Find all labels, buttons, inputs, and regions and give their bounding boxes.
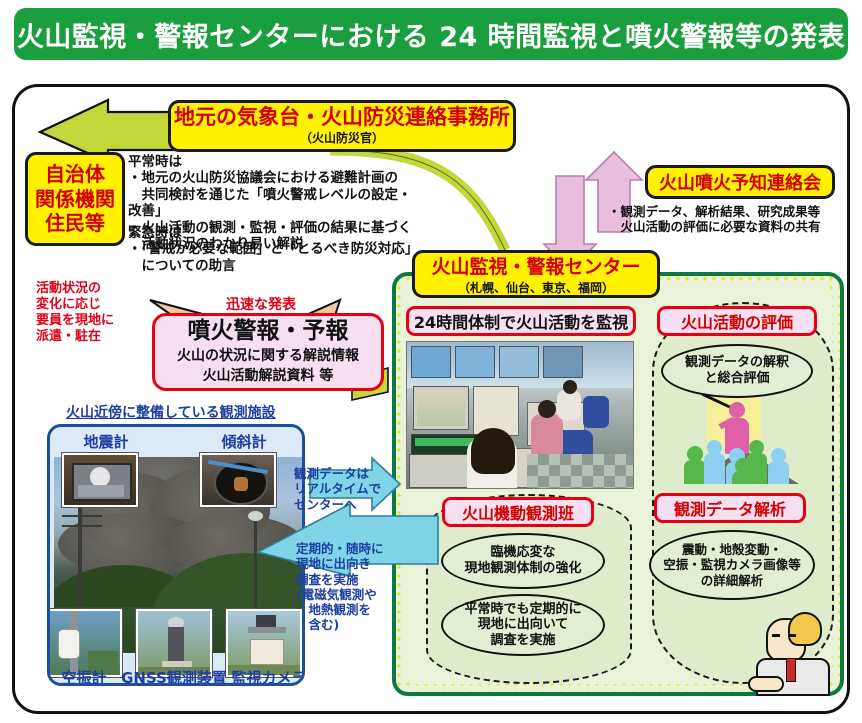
page-title: 火山監視・警報センターにおける 24 時間監視と噴火警報等の発表	[17, 15, 845, 54]
normal-times-b1-l1: ・地元の火山防災協議会における避難計画の	[128, 170, 424, 186]
dispatch-l2: 変化に応じ	[36, 297, 146, 313]
local-weather-office-box[interactable]: 地元の気象台・火山防災連絡事務所 （火山防災官）	[168, 100, 516, 152]
gnss-device-label: GNSS観測装置	[116, 667, 232, 686]
emergency-times-heading: 緊急時は	[128, 225, 424, 241]
mobile-team-ellipse-2-line1: 平常時でも定期的に	[464, 602, 581, 618]
emergency-times-l2: についての助言	[128, 258, 424, 274]
rapid-release-text: 迅速な発表	[226, 297, 296, 313]
eruption-warning-box[interactable]: 噴火警報・予報 火山の状況に関する解説情報 火山活動解説資料 等	[152, 313, 384, 391]
liaison-note-l1: ・観測データ、解析結果、研究成果等	[608, 204, 858, 219]
survey-l3: 調査を実施	[296, 572, 402, 587]
emergency-times-l1: ・「警戒が必要な範囲」と「とるべき防災対応」	[128, 241, 424, 257]
monitoring-center-subtitle: （札幌、仙台、東京、福岡）	[458, 279, 614, 296]
normal-times-b1-l2: 共同検討を通じた「噴火警戒レベルの設定・改善」	[128, 187, 424, 220]
analyst-illustration	[744, 612, 844, 696]
mobile-team-ellipse-2-line3: 調査を実施	[490, 633, 555, 649]
local-weather-office-title: 地元の気象台・火山防災連絡事務所	[174, 106, 510, 128]
local-government-line2: 関係機関	[35, 187, 115, 212]
mobile-observation-team-label: 火山機動観測班	[462, 500, 574, 524]
local-government-line1: 自治体	[45, 162, 105, 187]
mobile-team-ellipse-1: 臨機応変な 現地観測体制の強化	[441, 533, 605, 589]
eruption-warning-line3: 火山活動解説資料 等	[203, 365, 334, 385]
observation-facilities-title: 火山近傍に整備している観測施設	[66, 405, 276, 422]
eruption-prediction-liaison-box[interactable]: 火山噴火予知連絡会	[645, 165, 835, 199]
survey-l6: 含む)	[296, 617, 402, 632]
emergency-times-text: 緊急時は ・「警戒が必要な範囲」と「とるべき防災対応」 についての助言	[128, 225, 424, 274]
local-government-box[interactable]: 自治体 関係機関 住民等	[25, 152, 125, 246]
survey-l2: 現地に出向き	[296, 556, 402, 571]
volcanic-activity-evaluation-box[interactable]: 火山活動の評価	[657, 306, 817, 336]
tiltmeter-label: 傾斜計	[198, 431, 290, 452]
page-title-banner: 火山監視・警報センターにおける 24 時間監視と噴火警報等の発表	[14, 8, 848, 60]
mobile-team-ellipse-2: 平常時でも定期的に 現地に出向いて 調査を実施	[441, 594, 605, 656]
survey-l1: 定期的・随時に	[296, 541, 402, 556]
dispatch-l4: 派遣・駐在	[36, 329, 146, 345]
monitoring-camera-label: 監視カメラ	[230, 667, 305, 686]
evaluation-ellipse-1-line1: 観測データの解釈	[685, 355, 789, 371]
seismometer-label-text: 地震計	[83, 433, 128, 451]
dispatch-text: 活動状況の 変化に応じ 要員を現地に 派遣・駐在	[36, 281, 146, 344]
realtime-l2: リアルタイムで	[294, 481, 394, 496]
monitoring-center-box[interactable]: 火山監視・警報センター （札幌、仙台、東京、福岡）	[412, 250, 660, 298]
dispatch-l1: 活動状況の	[36, 281, 146, 297]
survey-l4: (電磁気観測や	[296, 587, 402, 602]
analysis-ellipse-1-line1: 震動・地殻変動・	[682, 542, 782, 557]
evaluation-ellipse-1-line2: と総合評価	[704, 371, 769, 387]
eruption-warning-title: 噴火警報・予報	[188, 319, 349, 344]
realtime-l1: 観測データは	[294, 466, 394, 481]
liaison-note-l2: 火山活動の評価に必要な資料の共有	[608, 219, 858, 234]
analysis-ellipse-1: 震動・地殻変動・ 空振・監視カメラ画像等 の詳細解析	[649, 530, 815, 600]
normal-times-heading: 平常時は	[128, 154, 424, 170]
analysis-ellipse-1-line2: 空振・監視カメラ画像等	[663, 557, 801, 572]
mobile-team-ellipse-1-line2: 現地観測体制の強化	[464, 561, 581, 577]
infrasound-meter-label-text: 空振計	[61, 669, 106, 686]
liaison-note-text: ・観測データ、解析結果、研究成果等 火山活動の評価に必要な資料の共有	[608, 204, 858, 235]
monitor-24h-label: 24時間体制で火山活動を監視	[414, 309, 628, 333]
infrasound-meter-label: 空振計	[48, 667, 120, 686]
monitoring-camera-label-text: 監視カメラ	[231, 669, 305, 686]
monitor-24h-box[interactable]: 24時間体制で火山活動を監視	[406, 306, 636, 336]
realtime-l3: センターへ	[294, 497, 394, 512]
dispatch-l3: 要員を現地に	[36, 313, 146, 329]
mobile-team-ellipse-1-line1: 臨機応変な	[490, 545, 555, 561]
seismometer-photo	[62, 453, 138, 507]
mobile-observation-team-box[interactable]: 火山機動観測班	[442, 497, 594, 527]
volcanic-activity-evaluation-label: 火山活動の評価	[681, 309, 793, 333]
seismometer-label: 地震計	[60, 431, 152, 452]
eruption-prediction-liaison-title: 火山噴火予知連絡会	[659, 169, 821, 195]
rapid-release-label: 迅速な発表	[226, 297, 296, 314]
observation-facilities-panel: 地震計 傾斜計 空振計 GNSS観測装置 監視カメラ	[47, 424, 305, 686]
control-room-photo	[406, 341, 634, 489]
local-weather-office-subtitle: （火山防災官）	[300, 129, 384, 146]
observation-data-analysis-label: 観測データ解析	[674, 496, 786, 520]
presentation-illustration	[683, 396, 809, 484]
eruption-warning-line2: 火山の状況に関する解説情報	[177, 345, 359, 365]
field-survey-text: 定期的・随時に 現地に出向き 調査を実施 (電磁気観測や 地熱観測を 含む)	[296, 541, 402, 633]
observation-facilities-title-text: 火山近傍に整備している観測施設	[66, 405, 276, 421]
survey-l5: 地熱観測を	[296, 602, 402, 617]
monitoring-center-title: 火山監視・警報センター	[431, 252, 640, 279]
evaluation-ellipse-1: 観測データの解釈 と総合評価	[661, 344, 813, 398]
local-government-line3: 住民等	[45, 211, 105, 236]
tiltmeter-photo	[200, 453, 276, 507]
gnss-device-label-text: GNSS観測装置	[121, 669, 227, 686]
observation-data-analysis-box[interactable]: 観測データ解析	[654, 493, 806, 523]
analysis-ellipse-1-line3: の詳細解析	[701, 573, 764, 588]
realtime-data-text: 観測データは リアルタイムで センターへ	[294, 466, 394, 512]
mobile-team-ellipse-2-line2: 現地に出向いて	[478, 617, 569, 633]
tiltmeter-label-text: 傾斜計	[221, 433, 266, 451]
